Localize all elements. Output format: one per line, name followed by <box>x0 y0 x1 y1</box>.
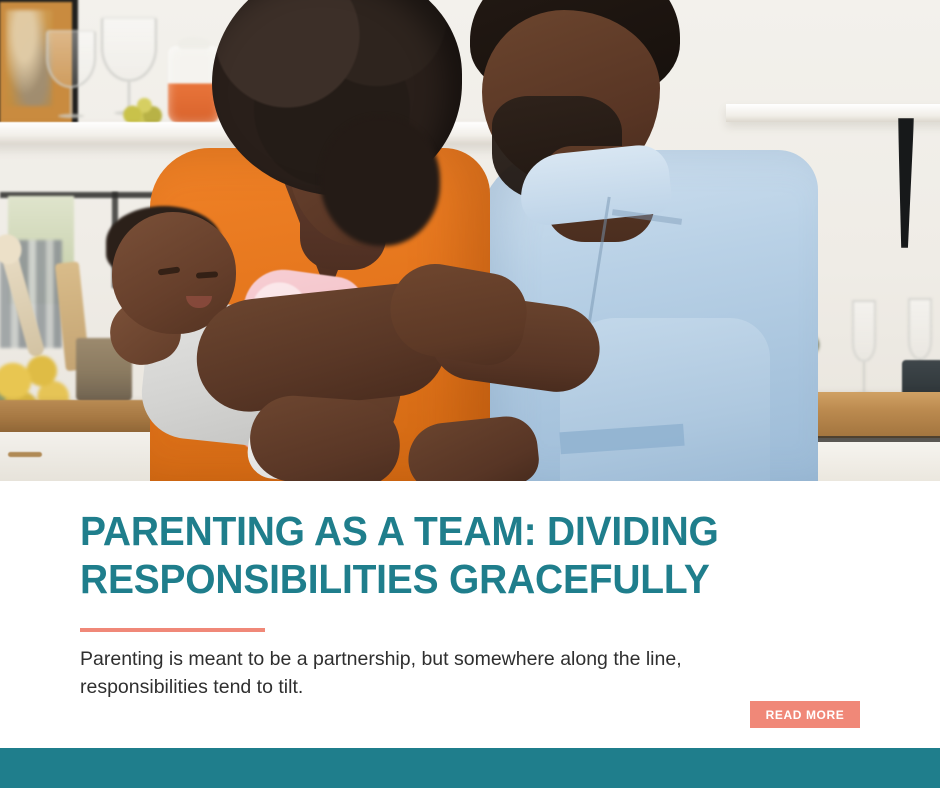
kitchen-scene <box>0 0 940 481</box>
wine-glass <box>46 30 96 118</box>
article-content: Parenting as a Team: Dividing Responsibi… <box>0 481 940 748</box>
hero-image <box>0 0 940 481</box>
article-excerpt: Parenting is meant to be a partnership, … <box>80 645 810 702</box>
accent-divider <box>80 628 265 632</box>
read-more-button[interactable]: Read More <box>750 701 860 728</box>
article-headline: Parenting as a Team: Dividing Responsibi… <box>80 507 821 604</box>
champagne-flute <box>852 300 876 396</box>
footer-bar <box>0 748 940 788</box>
cabinet-handle <box>8 452 42 457</box>
article-card: Parenting as a Team: Dividing Responsibi… <box>0 0 940 788</box>
